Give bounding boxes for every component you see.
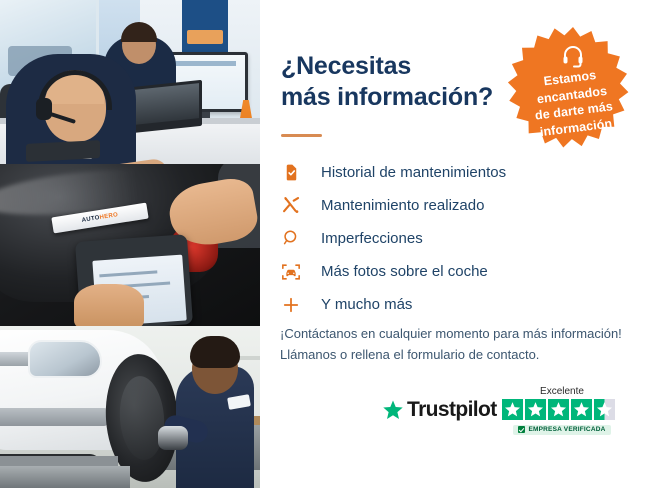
- rating-star-5-half: [594, 399, 615, 420]
- document-check-icon: [278, 162, 304, 184]
- tools-cross-icon: [278, 195, 304, 217]
- page-title-line-1: ¿Necesitas: [281, 51, 521, 82]
- verified-check-icon: [518, 426, 525, 433]
- trustpilot-rating: Excelente: [502, 386, 622, 438]
- plus-icon: [278, 294, 304, 316]
- trustpilot-wordmark: Trustpilot: [407, 398, 497, 422]
- verified-label: EMPRESA VERIFICADA: [528, 426, 605, 433]
- feature-label: Y mucho más: [321, 296, 412, 313]
- inspector-hand-lower: [74, 284, 144, 326]
- trustpilot-star-icon: [382, 399, 404, 421]
- info-badge: Estamos encantados de darte más informac…: [502, 24, 644, 166]
- feature-item-imperfections: Imperfecciones: [278, 222, 638, 255]
- car-inspection-photo: AUTOHERO: [0, 164, 260, 326]
- page-title: ¿Necesitas más información?: [281, 51, 521, 112]
- photo-collage: AUTOHERO: [0, 0, 260, 488]
- tablet-screen-line: [99, 270, 157, 277]
- mechanic-hair: [190, 336, 240, 368]
- content-panel: ¿Necesitas más información? Estamos enca…: [260, 0, 650, 488]
- car-lower-grille: [0, 408, 108, 426]
- promo-banner: AUTOHERO: [0, 0, 650, 488]
- rating-star-1: [502, 399, 523, 420]
- verified-company-badge: EMPRESA VERIFICADA: [513, 425, 610, 435]
- ruler-brand-text: AUTOHERO: [81, 212, 118, 224]
- rating-stars: [502, 399, 622, 420]
- wall-poster: [182, 0, 228, 52]
- car-headlight: [28, 340, 102, 378]
- magnifier-icon: [278, 228, 304, 250]
- feature-item-maintenance-history: Historial de mantenimientos: [278, 156, 638, 189]
- feature-label: Historial de mantenimientos: [321, 164, 506, 181]
- call-center-agents-photo: [0, 0, 260, 164]
- feature-item-more-photos: Más fotos sobre el coche: [278, 255, 638, 288]
- rating-star-4: [571, 399, 592, 420]
- contact-line-1: ¡Contáctanos en cualquier momento para m…: [280, 323, 635, 344]
- lift-ramp: [0, 466, 130, 488]
- mechanic-glove: [158, 426, 188, 450]
- feature-item-much-more: Y mucho más: [278, 288, 638, 321]
- lift-ramp-upper: [0, 456, 118, 466]
- trustpilot-widget[interactable]: Trustpilot Excelente: [382, 386, 632, 448]
- headset-icon: [561, 44, 585, 68]
- feature-label: Imperfecciones: [321, 230, 423, 247]
- feature-label: Mantenimiento realizado: [321, 197, 484, 214]
- headset-earcup: [36, 98, 52, 120]
- rating-star-3: [548, 399, 569, 420]
- feature-item-maintenance-done: Mantenimiento realizado: [278, 189, 638, 222]
- mechanic-tire-photo: [0, 326, 260, 488]
- page-title-line-2: más información?: [281, 82, 521, 113]
- feature-list: Historial de mantenimientos Mantenimient…: [278, 156, 638, 321]
- contact-line-2: Llámanos o rellena el formulario de cont…: [280, 344, 635, 365]
- rating-star-2: [525, 399, 546, 420]
- rating-label: Excelente: [502, 386, 622, 397]
- trustpilot-logo[interactable]: Trustpilot: [382, 398, 497, 422]
- car-scan-icon: [278, 261, 304, 283]
- title-divider: [281, 134, 322, 137]
- contact-text: ¡Contáctanos en cualquier momento para m…: [280, 323, 635, 365]
- feature-label: Más fotos sobre el coche: [321, 263, 488, 280]
